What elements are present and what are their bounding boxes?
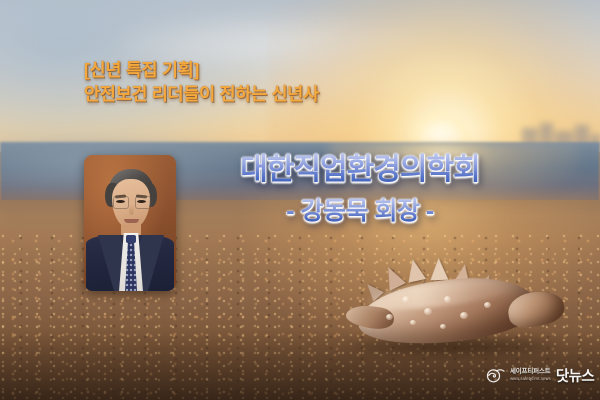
news-card: [신년 특집 기획] 안전보건 리더들이 전하는 신년사 대한직업환경의학회 -… bbox=[0, 0, 600, 400]
spiral-wave-icon bbox=[486, 365, 506, 385]
conch-shell-icon bbox=[340, 262, 570, 357]
kicker-line-2: 안전보건 리더들이 전하는 신년사 bbox=[84, 82, 504, 106]
watermark-suffix: 닷뉴스 bbox=[556, 365, 594, 386]
watermark-logo[interactable]: 세이프티퍼스트 www.safetyfirst.news 닷뉴스 bbox=[486, 362, 594, 388]
watermark-brand: 세이프티퍼스트 bbox=[510, 369, 551, 376]
watermark-text: 세이프티퍼스트 www.safetyfirst.news bbox=[510, 369, 551, 381]
kicker-line-1: [신년 특집 기획] bbox=[84, 58, 504, 82]
page-title: 대한직업환경의학회 bbox=[200, 150, 520, 190]
headline-person: - 강동묵 회장 - bbox=[200, 194, 520, 228]
kicker-text: [신년 특집 기획] 안전보건 리더들이 전하는 신년사 bbox=[84, 58, 504, 106]
headline-block: 대한직업환경의학회 - 강동묵 회장 - bbox=[200, 150, 520, 228]
avatar bbox=[84, 155, 176, 291]
watermark-url: www.safetyfirst.news bbox=[510, 377, 551, 381]
